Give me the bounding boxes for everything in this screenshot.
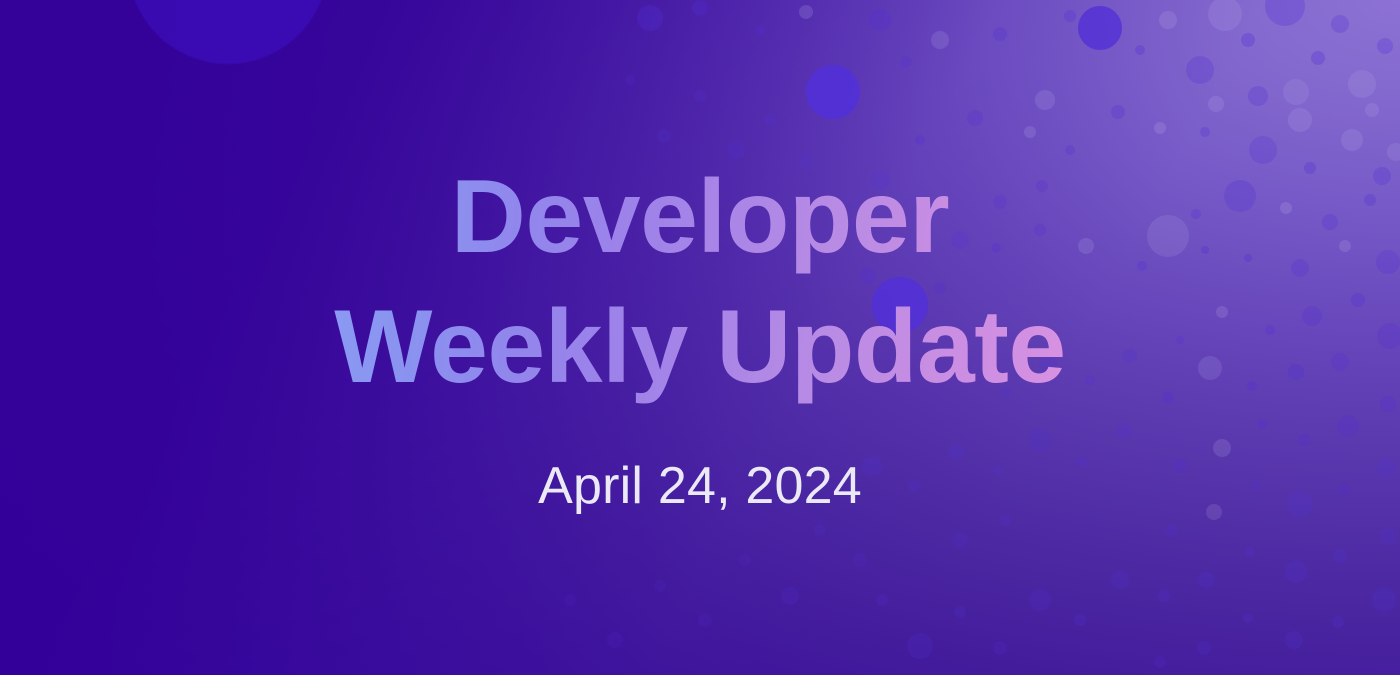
banner-content: Developer Weekly Update April 24, 2024	[0, 0, 1400, 675]
issue-date: April 24, 2024	[538, 456, 862, 516]
developer-weekly-update-banner: Developer Weekly Update April 24, 2024	[0, 0, 1400, 675]
title-line-two: Weekly Update	[334, 282, 1065, 412]
page-title: Developer Weekly Update	[334, 152, 1065, 412]
title-line-one: Developer	[334, 152, 1065, 282]
